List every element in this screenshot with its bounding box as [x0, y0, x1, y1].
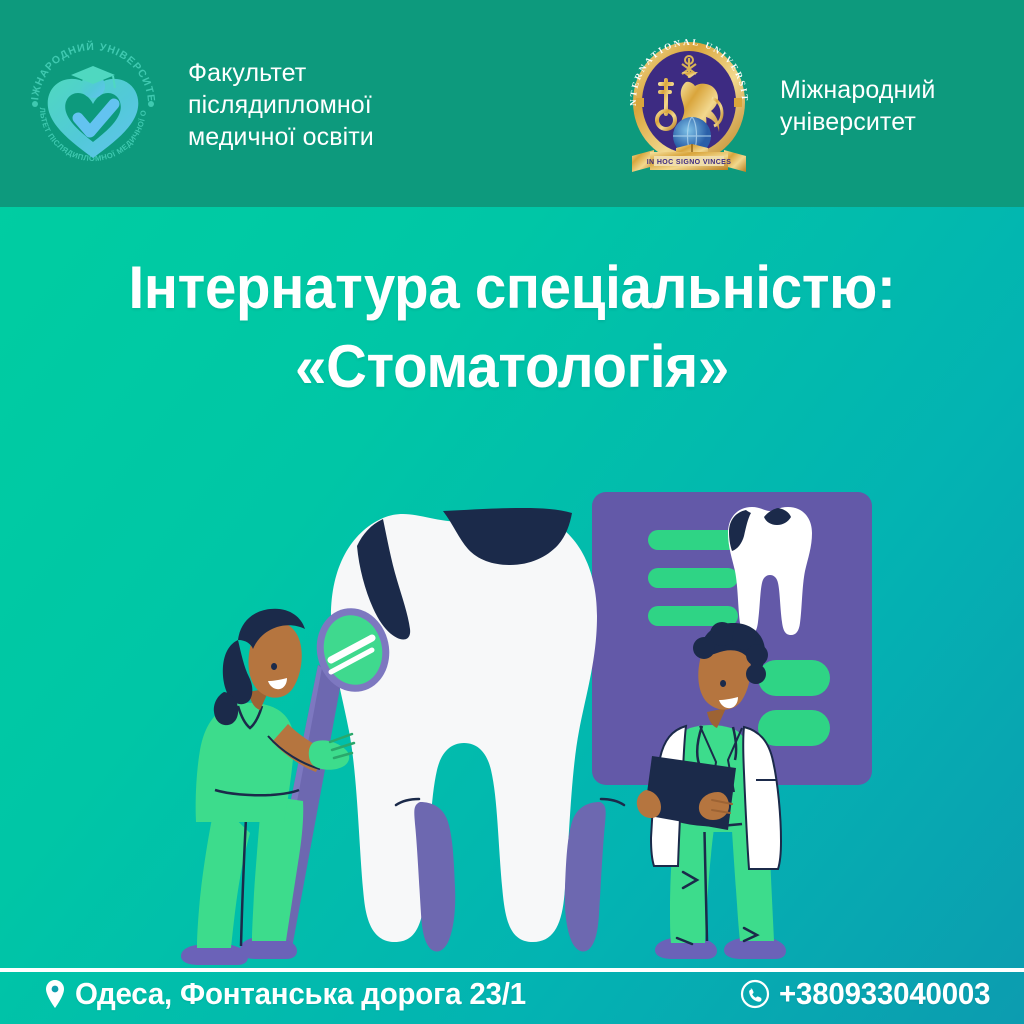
- faculty-circular-emblem-icon: МІЖНАРОДНИЙ УНІВЕРСИТЕТ ФАКУЛЬТЕТ ПІСЛЯД…: [18, 30, 168, 180]
- university-brand: INTERNATIONAL UNIVERSITY: [620, 36, 936, 176]
- title-line-2: «Стоматологія»: [31, 327, 994, 406]
- university-name: Міжнародний університет: [780, 74, 936, 138]
- page-title: Інтернатура спеціальністю: «Стоматологія…: [0, 248, 1024, 406]
- footer-bar: Одеса, Фонтанська дорога 23/1 +380933040…: [0, 972, 1024, 1024]
- footer-phone[interactable]: +380933040003: [740, 976, 1001, 1012]
- title-line-1: Інтернатура спеціальністю:: [31, 248, 994, 327]
- footer-phone-text: +380933040003: [779, 976, 990, 1012]
- faculty-brand: МІЖНАРОДНИЙ УНІВЕРСИТЕТ ФАКУЛЬТЕТ ПІСЛЯД…: [18, 30, 374, 180]
- large-molar-tooth-icon: [331, 508, 624, 952]
- footer-address: Одеса, Фонтанська дорога 23/1: [44, 976, 550, 1012]
- phone-circle-icon: [740, 979, 770, 1009]
- poster-root: МІЖНАРОДНИЙ УНІВЕРСИТЕТ ФАКУЛЬТЕТ ПІСЛЯД…: [0, 0, 1024, 1024]
- header-bar: МІЖНАРОДНИЙ УНІВЕРСИТЕТ ФАКУЛЬТЕТ ПІСЛЯД…: [0, 0, 1024, 207]
- svg-text:IN HOC SIGNO VINCES: IN HOC SIGNO VINCES: [647, 159, 732, 166]
- university-coat-of-arms-icon: INTERNATIONAL UNIVERSITY: [620, 36, 758, 176]
- faculty-name: Факультет післядипломної медичної освіти: [188, 57, 374, 153]
- location-pin-icon: [44, 979, 66, 1009]
- footer-address-text: Одеса, Фонтанська дорога 23/1: [75, 976, 526, 1012]
